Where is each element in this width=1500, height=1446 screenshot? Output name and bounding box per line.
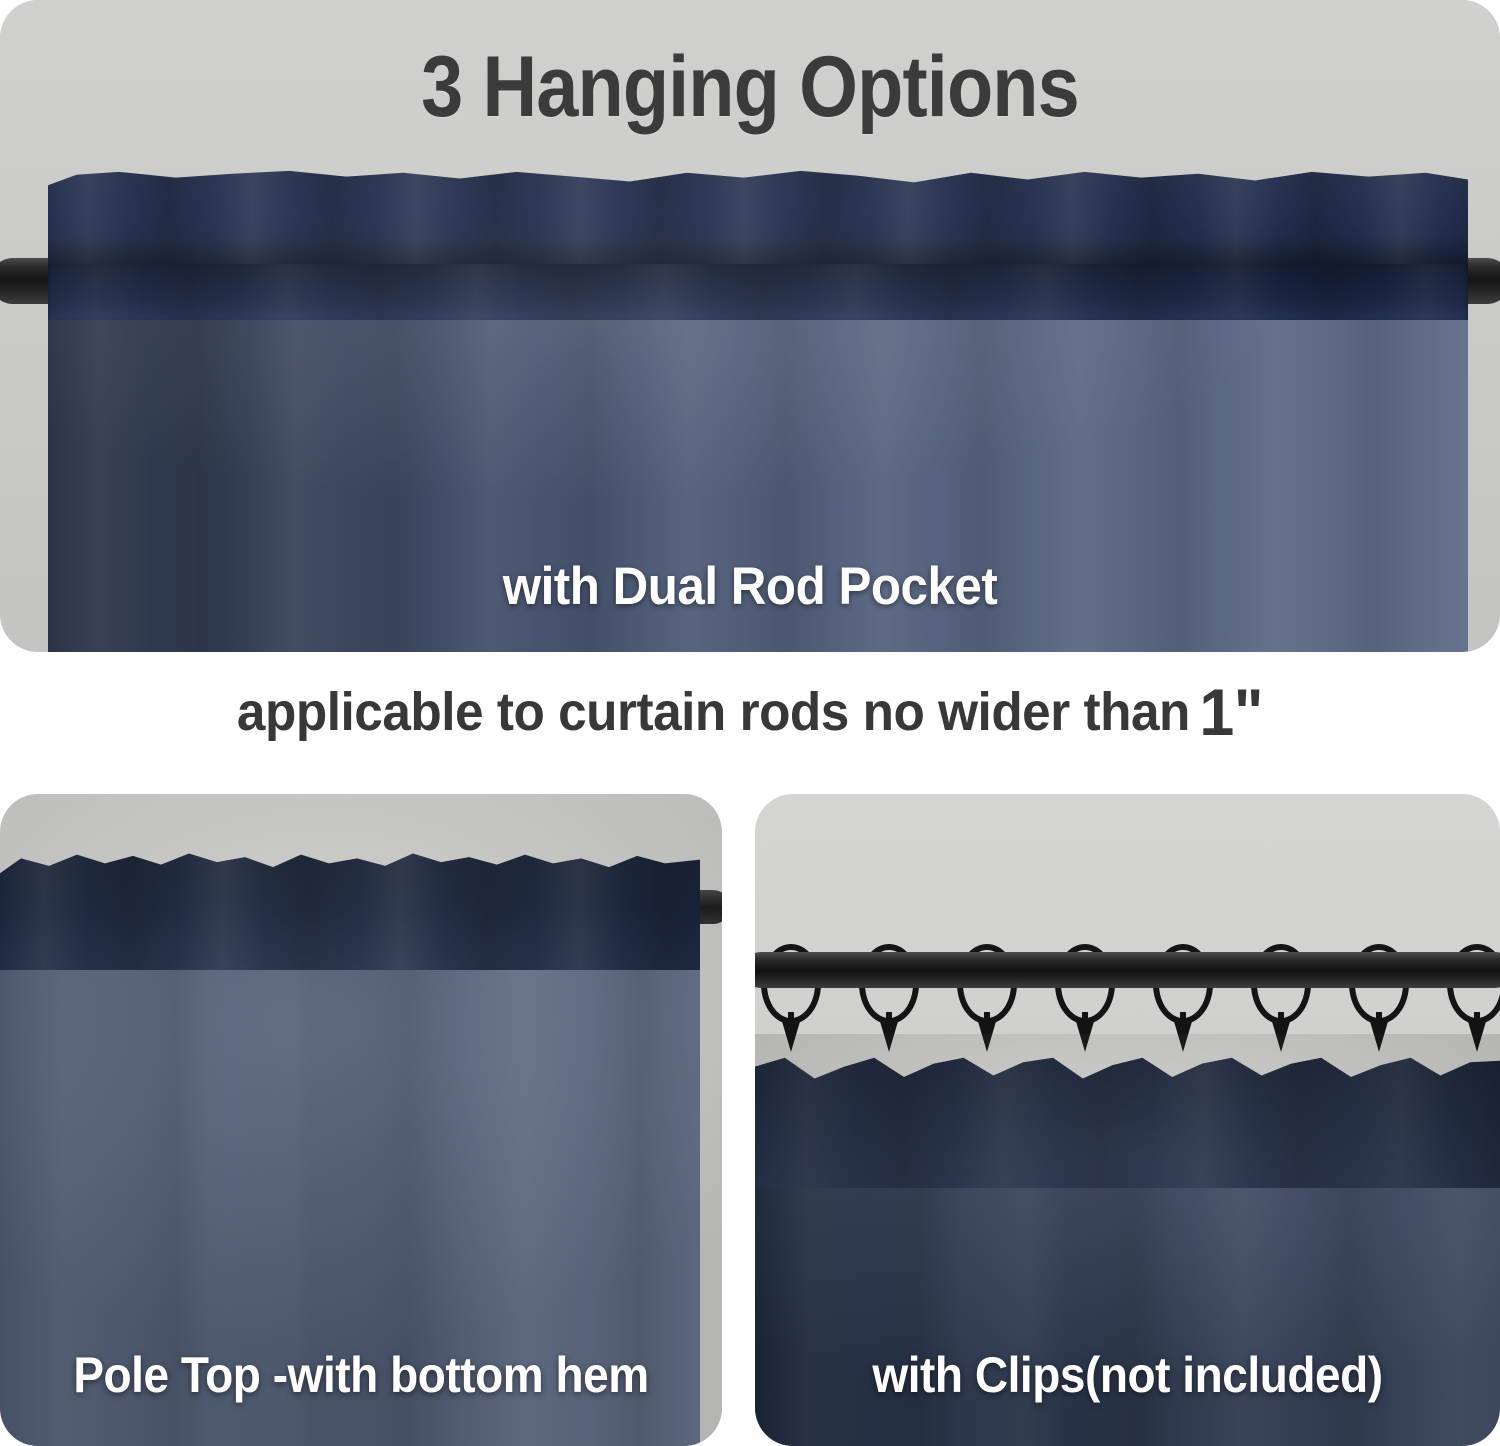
caption-pole-top: Pole Top -with bottom hem — [29, 1346, 693, 1404]
caption-dual-rod-pocket: with Dual Rod Pocket — [53, 556, 1448, 617]
subtitle-row: applicable to curtain rods no wider than… — [38, 664, 1463, 760]
rod-pocket-band — [48, 256, 1468, 320]
curtain-body — [755, 1182, 1500, 1446]
curtain-rod-icon — [755, 952, 1500, 988]
panel-dual-rod-pocket: 3 Hanging Options with Dual Rod Pocket — [0, 0, 1500, 652]
curtain-clip-icon — [1467, 1018, 1487, 1052]
curtain-clip-icon — [1075, 1018, 1095, 1052]
subtitle-text: applicable to curtain rods no wider than — [237, 681, 1190, 743]
curtain-clip-icon — [879, 1018, 899, 1052]
subtitle-measure: 1" — [1199, 674, 1263, 750]
curtain-clip-icon — [1173, 1018, 1193, 1052]
page-title: 3 Hanging Options — [90, 38, 1410, 137]
curtain-header-band — [755, 1040, 1500, 1188]
panel-with-clips: with Clips(not included) — [755, 794, 1500, 1446]
caption-with-clips: with Clips(not included) — [785, 1346, 1470, 1404]
curtain-clip-icon — [781, 1018, 801, 1052]
curtain-clip-icon — [1369, 1018, 1389, 1052]
curtain-top-flap — [48, 168, 1468, 264]
product-infographic: 3 Hanging Options with Dual Rod Pocket a… — [0, 0, 1500, 1446]
curtain-clip-icon — [977, 1018, 997, 1052]
pole-top-band — [0, 846, 700, 970]
panel-pole-top: Pole Top -with bottom hem — [0, 794, 722, 1446]
curtain-clip-icon — [1271, 1018, 1291, 1052]
